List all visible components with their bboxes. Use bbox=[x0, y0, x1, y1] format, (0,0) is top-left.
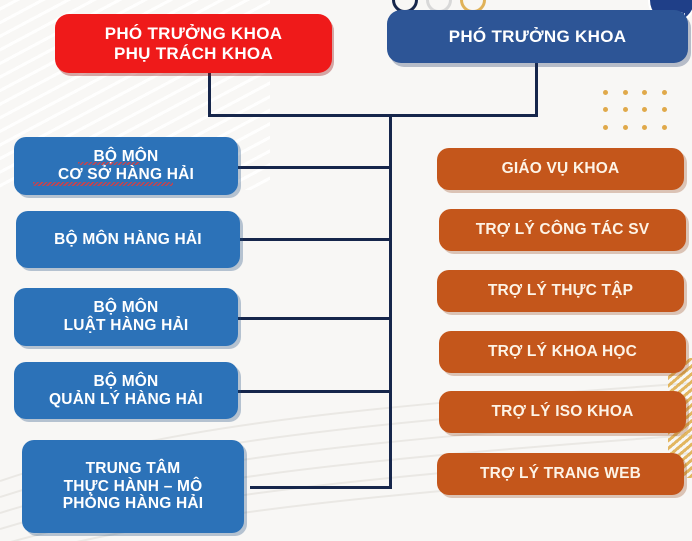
node-label: TRỢ LÝ ISO KHOA bbox=[492, 403, 634, 421]
connector-top-bus bbox=[208, 114, 538, 117]
node-tro-ly-thuc-tap[interactable]: TRỢ LÝ THỰC TẬP bbox=[437, 270, 684, 312]
node-tro-ly-trang-web[interactable]: TRỢ LÝ TRANG WEB bbox=[437, 453, 684, 495]
node-label: BỘ MÔN HÀNG HẢI bbox=[54, 231, 202, 249]
connector-branch-2 bbox=[238, 238, 391, 241]
node-label: BỘ MÔN QUẢN LÝ HÀNG HẢI bbox=[49, 373, 203, 408]
org-chart-canvas: HÀNG HẢI PHÓ TRƯỞNG KHOA PHỤ TRÁCH KHOA … bbox=[0, 0, 692, 541]
node-label: GIÁO VỤ KHOA bbox=[502, 160, 620, 178]
connector-branch-3 bbox=[238, 317, 391, 320]
node-giao-vu-khoa[interactable]: GIÁO VỤ KHOA bbox=[437, 148, 684, 190]
node-label: TRỢ LÝ KHOA HỌC bbox=[488, 343, 637, 361]
node-bo-mon-quan-ly-hang-hai[interactable]: BỘ MÔN QUẢN LÝ HÀNG HẢI bbox=[14, 362, 238, 419]
node-label: BỘ MÔN LUẬT HÀNG HẢI bbox=[64, 299, 189, 334]
connector-spine bbox=[389, 114, 392, 489]
node-label: TRỢ LÝ THỰC TẬP bbox=[488, 282, 633, 300]
node-label: TRUNG TÂM THỰC HÀNH – MÔ PHỎNG HÀNG HẢI bbox=[63, 460, 204, 513]
node-bo-mon-co-so-hang-hai[interactable]: BỘ MÔN CƠ SỞ HÀNG HẢI bbox=[14, 137, 238, 195]
connector-red-stem bbox=[208, 72, 211, 117]
node-pho-truong-khoa[interactable]: PHÓ TRƯỞNG KHOA bbox=[387, 10, 688, 63]
node-tro-ly-cong-tac-sv[interactable]: TRỢ LÝ CÔNG TÁC SV bbox=[439, 209, 686, 251]
connector-navy-stem bbox=[535, 62, 538, 117]
gold-dot-grid-decoration bbox=[596, 84, 674, 136]
node-bo-mon-hang-hai[interactable]: BỘ MÔN HÀNG HẢI bbox=[16, 211, 240, 268]
node-tro-ly-iso-khoa[interactable]: TRỢ LÝ ISO KHOA bbox=[439, 391, 686, 433]
connector-branch-5 bbox=[250, 486, 391, 489]
node-tro-ly-khoa-hoc[interactable]: TRỢ LÝ KHOA HỌC bbox=[439, 331, 686, 373]
node-label: TRỢ LÝ CÔNG TÁC SV bbox=[476, 221, 650, 239]
connector-branch-1 bbox=[238, 166, 391, 169]
node-pho-truong-khoa-phu-trach[interactable]: PHÓ TRƯỞNG KHOA PHỤ TRÁCH KHOA bbox=[55, 14, 332, 73]
connector-branch-4 bbox=[238, 390, 391, 393]
node-label: PHÓ TRƯỞNG KHOA bbox=[449, 27, 627, 46]
node-trung-tam-thuc-hanh[interactable]: TRUNG TÂM THỰC HÀNH – MÔ PHỎNG HÀNG HẢI bbox=[22, 440, 244, 533]
node-label: BỘ MÔN CƠ SỞ HÀNG HẢI bbox=[58, 148, 194, 183]
node-label: PHÓ TRƯỞNG KHOA PHỤ TRÁCH KHOA bbox=[105, 24, 283, 63]
node-bo-mon-luat-hang-hai[interactable]: BỘ MÔN LUẬT HÀNG HẢI bbox=[14, 288, 238, 346]
node-label: TRỢ LÝ TRANG WEB bbox=[480, 465, 641, 483]
